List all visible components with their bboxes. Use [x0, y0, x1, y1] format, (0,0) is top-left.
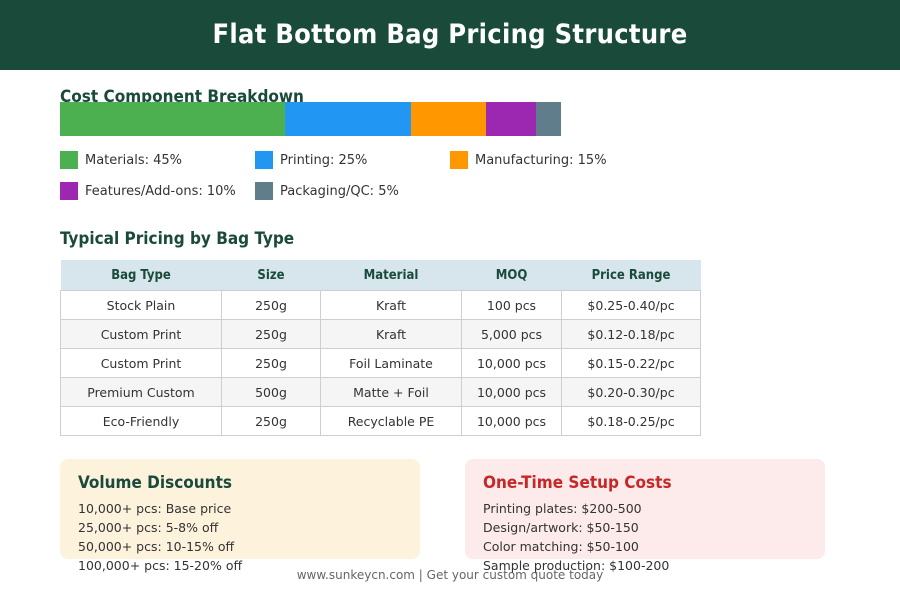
bar-segment-printing: [285, 102, 410, 136]
table-cell: Premium Custom: [61, 378, 222, 407]
table-column-header: Size: [222, 260, 321, 291]
legend-row: Materials: 45%Printing: 25%Manufacturing…: [60, 148, 700, 172]
table-cell: $0.12-0.18/pc: [562, 320, 701, 349]
table-cell: Recyclable PE: [321, 407, 462, 436]
table-header-row: Bag TypeSizeMaterialMOQPrice Range: [61, 260, 701, 291]
table-cell: $0.15-0.22/pc: [562, 349, 701, 378]
table-row: Premium Custom500gMatte + Foil10,000 pcs…: [61, 378, 701, 407]
cost-breakdown-stacked-bar: [60, 102, 561, 136]
table-cell: 10,000 pcs: [462, 378, 562, 407]
bar-segment-materials: [60, 102, 285, 136]
table-cell: 250g: [222, 349, 321, 378]
table-cell: 500g: [222, 378, 321, 407]
legend-swatch-icon: [255, 151, 273, 169]
legend-swatch-icon: [60, 182, 78, 200]
pricing-table: Bag TypeSizeMaterialMOQPrice Range Stock…: [60, 260, 701, 436]
volume-discounts-lines: 10,000+ pcs: Base price25,000+ pcs: 5-8%…: [78, 499, 402, 575]
setup-cost-line: Color matching: $50-100: [483, 537, 807, 556]
infographic-page: Flat Bottom Bag Pricing Structure Cost C…: [0, 0, 900, 600]
legend-swatch-icon: [450, 151, 468, 169]
legend-item-label: Materials: 45%: [85, 153, 182, 168]
legend-item-label: Manufacturing: 15%: [475, 153, 607, 168]
table-cell: 250g: [222, 291, 321, 320]
table-row: Stock Plain250gKraft100 pcs$0.25-0.40/pc: [61, 291, 701, 320]
footer-note: www.sunkeycn.com | Get your custom quote…: [0, 568, 900, 582]
volume-discount-line: 50,000+ pcs: 10-15% off: [78, 537, 402, 556]
page-title: Flat Bottom Bag Pricing Structure: [0, 0, 900, 70]
table-column-header: MOQ: [462, 260, 562, 291]
setup-costs-box: One-Time Setup Costs Printing plates: $2…: [465, 459, 825, 559]
legend-row: Features/Add-ons: 10%Packaging/QC: 5%: [60, 179, 700, 203]
table-cell: Matte + Foil: [321, 378, 462, 407]
legend-item: Manufacturing: 15%: [450, 151, 607, 169]
table-row: Eco-Friendly250gRecyclable PE10,000 pcs$…: [61, 407, 701, 436]
volume-discounts-title: Volume Discounts: [78, 473, 402, 493]
table-cell: Kraft: [321, 291, 462, 320]
table-cell: Kraft: [321, 320, 462, 349]
table-column-header: Bag Type: [61, 260, 222, 291]
setup-costs-title: One-Time Setup Costs: [483, 473, 807, 493]
setup-cost-line: Design/artwork: $50-150: [483, 518, 807, 537]
legend-item: Materials: 45%: [60, 151, 255, 169]
legend-swatch-icon: [60, 151, 78, 169]
volume-discount-line: 25,000+ pcs: 5-8% off: [78, 518, 402, 537]
table-row: Custom Print250gKraft5,000 pcs$0.12-0.18…: [61, 320, 701, 349]
legend-item-label: Packaging/QC: 5%: [280, 184, 399, 199]
table-cell: $0.25-0.40/pc: [562, 291, 701, 320]
table-row: Custom Print250gFoil Laminate10,000 pcs$…: [61, 349, 701, 378]
bar-segment-manufacturing: [411, 102, 486, 136]
table-cell: 10,000 pcs: [462, 407, 562, 436]
setup-cost-line: Printing plates: $200-500: [483, 499, 807, 518]
volume-discount-line: 10,000+ pcs: Base price: [78, 499, 402, 518]
pricing-table-heading: Typical Pricing by Bag Type: [60, 229, 294, 249]
table-cell: $0.20-0.30/pc: [562, 378, 701, 407]
table-cell: 100 pcs: [462, 291, 562, 320]
legend-item: Packaging/QC: 5%: [255, 182, 399, 200]
table-cell: Eco-Friendly: [61, 407, 222, 436]
table-cell: 250g: [222, 320, 321, 349]
table-body: Stock Plain250gKraft100 pcs$0.25-0.40/pc…: [61, 291, 701, 436]
table-cell: Foil Laminate: [321, 349, 462, 378]
table-cell: Stock Plain: [61, 291, 222, 320]
legend-item-label: Features/Add-ons: 10%: [85, 184, 236, 199]
table-column-header: Price Range: [562, 260, 701, 291]
setup-costs-lines: Printing plates: $200-500Design/artwork:…: [483, 499, 807, 575]
table-cell: 250g: [222, 407, 321, 436]
bar-segment-packaging-qc: [536, 102, 561, 136]
table-cell: 10,000 pcs: [462, 349, 562, 378]
table-cell: 5,000 pcs: [462, 320, 562, 349]
table-cell: Custom Print: [61, 349, 222, 378]
volume-discounts-box: Volume Discounts 10,000+ pcs: Base price…: [60, 459, 420, 559]
bar-segment-features-add-ons: [486, 102, 536, 136]
table-cell: Custom Print: [61, 320, 222, 349]
legend-item-label: Printing: 25%: [280, 153, 367, 168]
legend-item: Printing: 25%: [255, 151, 450, 169]
table-column-header: Material: [321, 260, 462, 291]
legend-item: Features/Add-ons: 10%: [60, 182, 255, 200]
cost-breakdown-legend: Materials: 45%Printing: 25%Manufacturing…: [60, 148, 700, 210]
table-cell: $0.18-0.25/pc: [562, 407, 701, 436]
legend-swatch-icon: [255, 182, 273, 200]
